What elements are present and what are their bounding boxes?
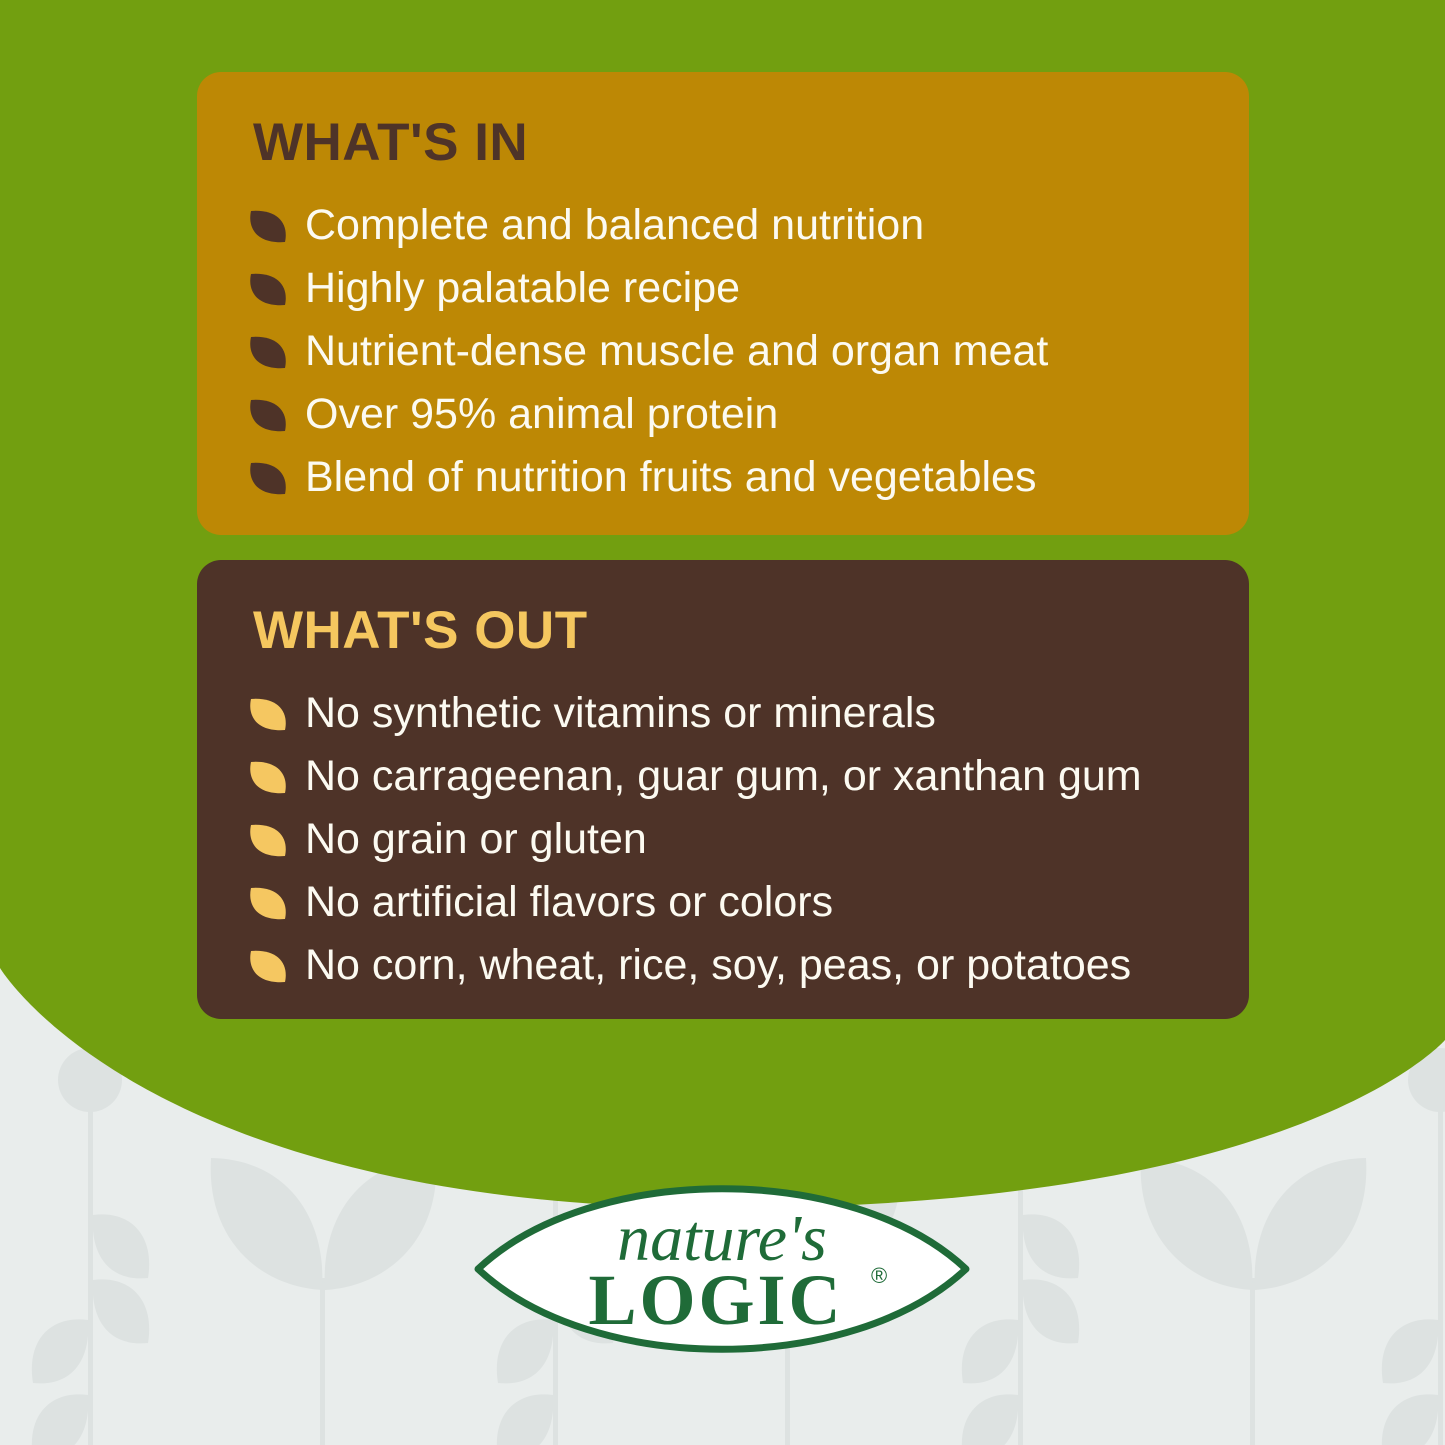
leaf-bullet-brown-icon [245,455,291,501]
list-item: No grain or gluten [245,817,1209,863]
leaf-bullet-gold-icon [245,754,291,800]
list-item-label: No grain or gluten [305,817,647,862]
list-item: Blend of nutrition fruits and vegetables [245,455,1209,501]
whats-out-card: WHAT'S OUT No synthetic vitamins or mine… [197,560,1249,1019]
leaf-bullet-brown-icon [245,329,291,375]
list-item: Nutrient-dense muscle and organ meat [245,329,1209,375]
whats-out-title: WHAT'S OUT [253,604,1209,657]
list-item-label: No artificial flavors or colors [305,880,833,925]
list-item-label: Over 95% animal protein [305,392,778,437]
leaf-bullet-brown-icon [245,392,291,438]
list-item: Complete and balanced nutrition [245,203,1209,249]
brand-logo: nature's LOGIC ® [472,1146,972,1392]
whats-in-card: WHAT'S IN Complete and balanced nutritio… [197,72,1249,535]
list-item: No carrageenan, guar gum, or xanthan gum [245,754,1209,800]
list-item-label: Complete and balanced nutrition [305,203,924,248]
list-item-label: No corn, wheat, rice, soy, peas, or pota… [305,943,1131,988]
list-item-label: Highly palatable recipe [305,266,740,311]
list-item: Highly palatable recipe [245,266,1209,312]
list-item-label: Nutrient-dense muscle and organ meat [305,329,1048,374]
list-item: No artificial flavors or colors [245,880,1209,926]
list-item: Over 95% animal protein [245,392,1209,438]
infographic-canvas: WHAT'S IN Complete and balanced nutritio… [0,0,1445,1445]
whats-in-title: WHAT'S IN [253,116,1209,169]
list-item-label: No synthetic vitamins or minerals [305,691,936,736]
leaf-bullet-gold-icon [245,691,291,737]
list-item: No corn, wheat, rice, soy, peas, or pota… [245,943,1209,989]
leaf-bullet-brown-icon [245,203,291,249]
logo-wordmark-text: LOGIC [588,1260,843,1340]
list-item: No synthetic vitamins or minerals [245,691,1209,737]
leaf-bullet-gold-icon [245,943,291,989]
leaf-bullet-brown-icon [245,266,291,312]
whats-out-list: No synthetic vitamins or minerals No car… [245,691,1209,989]
leaf-bullet-gold-icon [245,817,291,863]
leaf-bullet-gold-icon [245,880,291,926]
whats-in-list: Complete and balanced nutrition Highly p… [245,203,1209,501]
list-item-label: Blend of nutrition fruits and vegetables [305,455,1036,500]
list-item-label: No carrageenan, guar gum, or xanthan gum [305,754,1142,799]
registered-trademark-icon: ® [871,1263,887,1288]
